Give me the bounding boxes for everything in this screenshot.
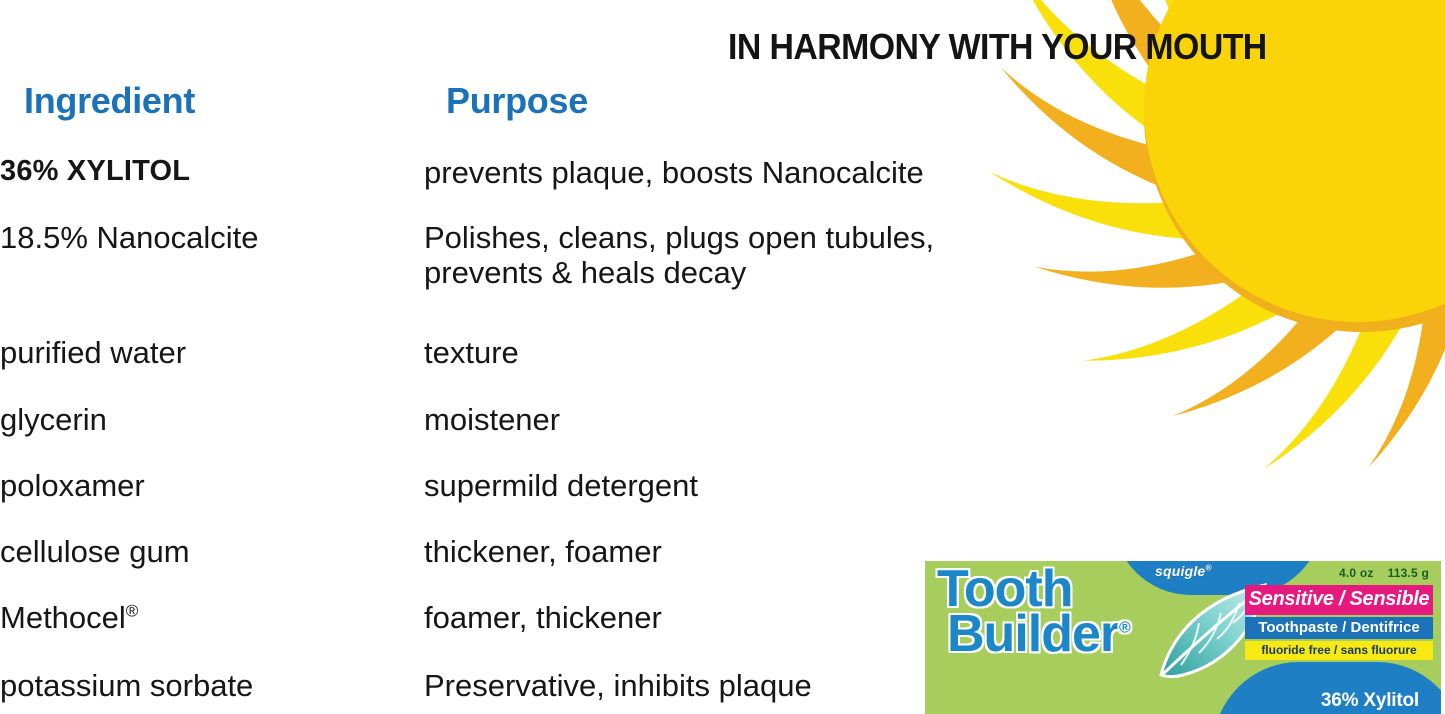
sun-ray [1263, 312, 1410, 470]
cell-ingredient: 18.5% Nanocalcite [0, 220, 420, 255]
product-logo: Tooth Builder® [937, 567, 1247, 656]
package-face: squigle® [925, 561, 1441, 714]
product-package[interactable]: squigle® [921, 557, 1445, 714]
net-weight-oz: 4.0 oz [1339, 566, 1374, 580]
badge-xylitol: 36% Xylitol [1321, 690, 1419, 712]
cell-purpose: texture [424, 335, 1030, 370]
sun-ray [1368, 289, 1445, 468]
cell-ingredient: cellulose gum [0, 534, 420, 569]
badge-sensitive: Sensitive / Sensible [1245, 585, 1433, 615]
cell-ingredient: poloxamer [0, 468, 420, 503]
cell-purpose: prevents plaque, boosts Nanocalcite [424, 155, 1030, 190]
sun-ray [1082, 289, 1291, 361]
cell-purpose: moistener [424, 402, 1030, 437]
sun-rays [990, 0, 1445, 470]
cell-purpose: Polishes, cleans, plugs open tubules, pr… [424, 220, 1030, 291]
cell-ingredient: glycerin [0, 402, 420, 437]
net-weight: 4.0 oz113.5 g [1339, 566, 1429, 580]
logo-line-2: Builder® [937, 612, 1247, 657]
badge-fluoride-free: fluoride free / sans fluorure [1245, 641, 1433, 660]
cell-ingredient: purified water [0, 335, 420, 370]
cell-ingredient: Methocel® [0, 600, 420, 635]
sun-ray [1172, 312, 1350, 417]
cell-ingredient: 36% XYLITOL [0, 155, 420, 188]
slide-canvas: IN HARMONY WITH YOUR MOUTH Ingredient Pu… [0, 0, 1445, 714]
page-title: IN HARMONY WITH YOUR MOUTH [728, 26, 1267, 68]
cell-purpose: supermild detergent [424, 468, 1030, 503]
column-header-ingredient: Ingredient [24, 80, 195, 122]
badge-toothpaste: Toothpaste / Dentifrice [1245, 617, 1433, 639]
net-weight-g: 113.5 g [1388, 566, 1429, 580]
cell-ingredient: potassium sorbate [0, 668, 420, 703]
sun-ray [1142, 0, 1194, 14]
column-header-purpose: Purpose [446, 80, 588, 122]
sun-ray [1035, 251, 1238, 287]
registered-trademark-icon: ® [126, 602, 139, 621]
